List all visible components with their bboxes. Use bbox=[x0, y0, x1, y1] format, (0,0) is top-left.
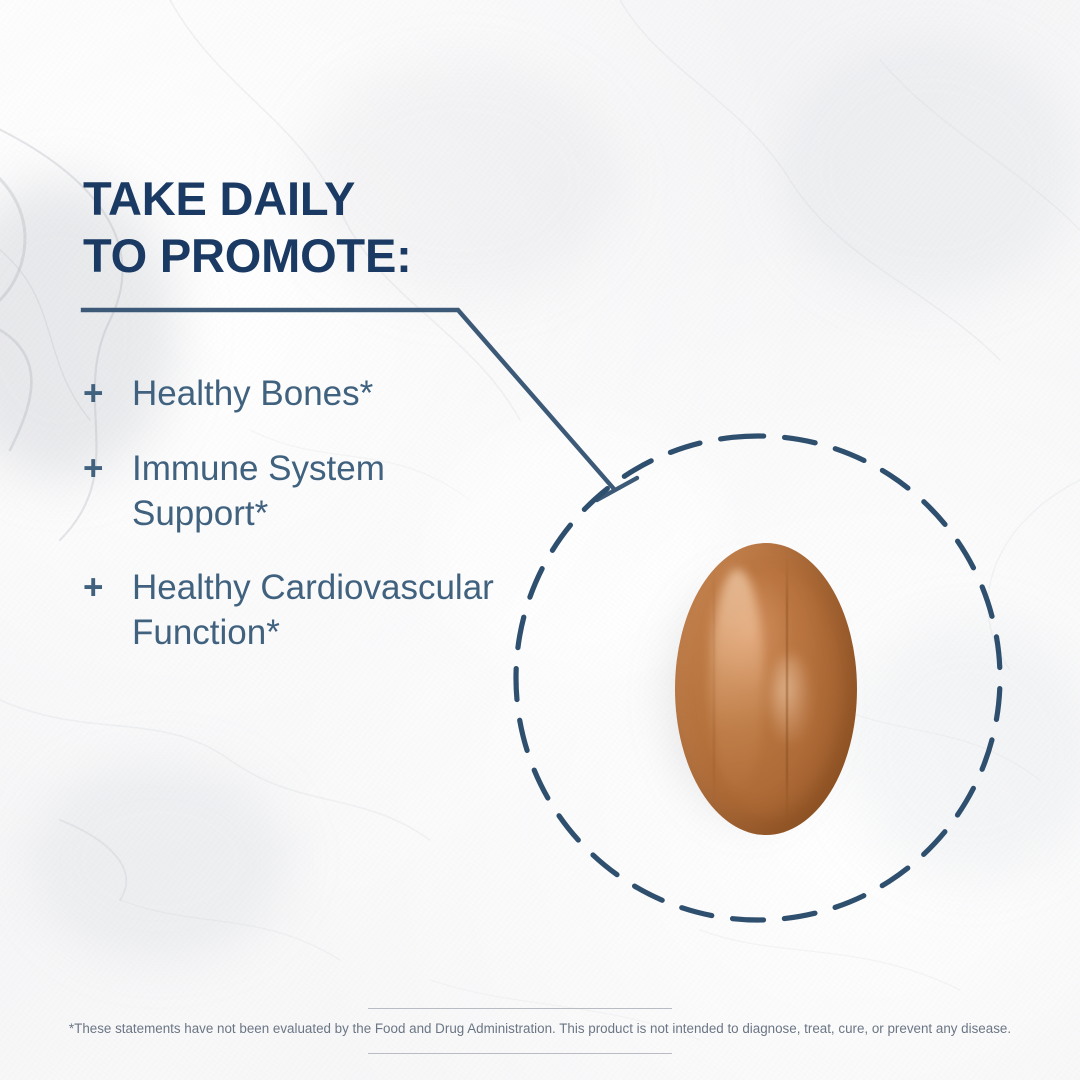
softgel-capsule bbox=[675, 543, 857, 835]
plus-icon: + bbox=[83, 372, 132, 417]
capsule-highlight-secondary bbox=[770, 654, 810, 742]
benefit-label: Healthy Cardiovascular Function* bbox=[132, 566, 503, 656]
plus-icon: + bbox=[83, 566, 132, 611]
plus-icon: + bbox=[83, 447, 132, 492]
capsule-body bbox=[675, 543, 857, 835]
list-item: + Healthy Cardiovascular Function* bbox=[83, 566, 503, 656]
capsule-highlight bbox=[711, 569, 764, 797]
list-item: + Healthy Bones* bbox=[83, 372, 503, 417]
divider-bottom bbox=[368, 1053, 672, 1054]
marketing-graphic: TAKE DAILY TO PROMOTE: + Healthy Bones* … bbox=[0, 0, 1080, 1080]
benefit-label: Healthy Bones* bbox=[132, 372, 373, 417]
fda-disclaimer: *These statements have not been evaluate… bbox=[0, 1020, 1080, 1039]
benefits-list: + Healthy Bones* + Immune System Support… bbox=[83, 372, 503, 686]
page-title: TAKE DAILY TO PROMOTE: bbox=[83, 170, 412, 285]
benefit-label: Immune System Support* bbox=[132, 447, 503, 537]
capsule-seam bbox=[786, 558, 788, 821]
divider-top bbox=[368, 1008, 672, 1009]
list-item: + Immune System Support* bbox=[83, 447, 503, 537]
